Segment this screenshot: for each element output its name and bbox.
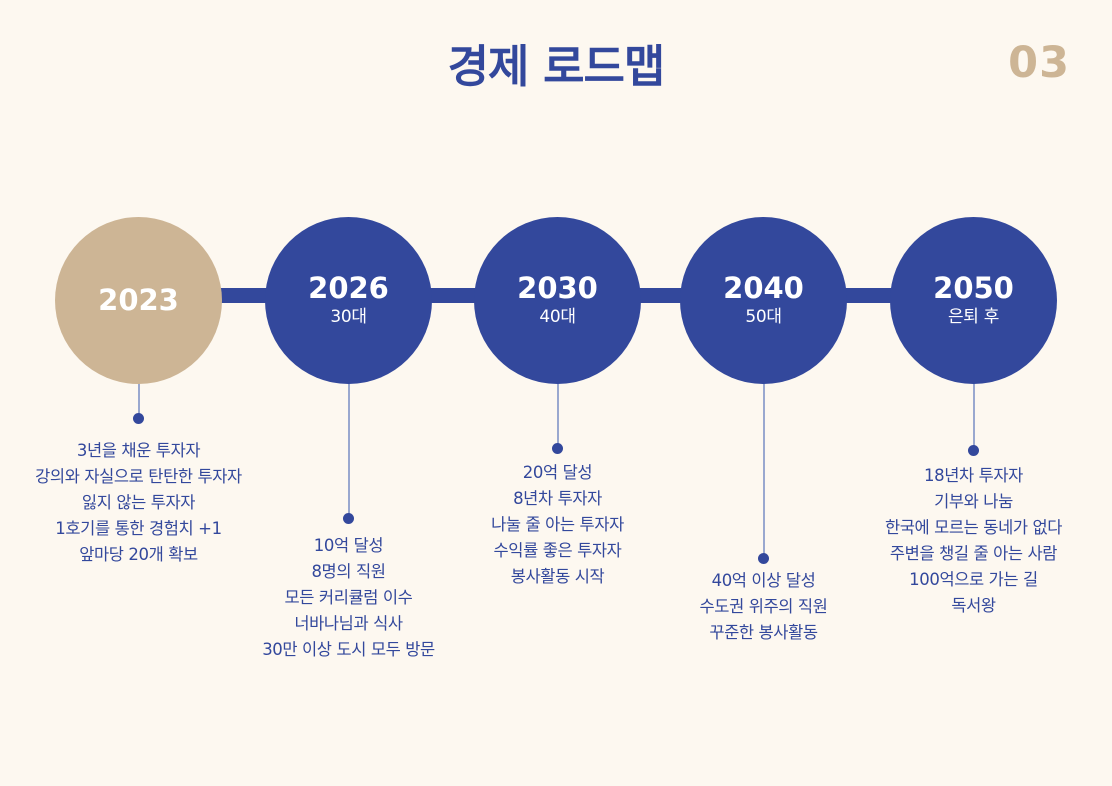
detail-line: 꾸준한 봉사활동 bbox=[644, 620, 884, 646]
timeline-dot-2030 bbox=[552, 443, 563, 454]
timeline-details-2026: 10억 달성8명의 직원모든 커리큘럼 이수너바나님과 식사30만 이상 도시 … bbox=[224, 533, 474, 663]
detail-line: 3년을 채운 투자자 bbox=[9, 438, 269, 464]
detail-line: 모든 커리큘럼 이수 bbox=[224, 585, 474, 611]
node-year-label: 2040 bbox=[723, 273, 804, 303]
timeline-dot-2050 bbox=[968, 445, 979, 456]
detail-line: 잃지 않는 투자자 bbox=[9, 490, 269, 516]
node-subtitle-label: 50대 bbox=[745, 306, 781, 328]
node-circle-2040: 204050대 bbox=[680, 217, 847, 384]
node-subtitle-label: 30대 bbox=[330, 306, 366, 328]
detail-line: 8명의 직원 bbox=[224, 559, 474, 585]
detail-line: 30만 이상 도시 모두 방문 bbox=[224, 637, 474, 663]
node-year-label: 2023 bbox=[98, 285, 179, 315]
timeline-node-2030[interactable]: 203040대 bbox=[474, 217, 641, 384]
timeline-node-2023[interactable]: 2023 bbox=[55, 217, 222, 384]
node-year-label: 2030 bbox=[517, 273, 598, 303]
detail-line: 10억 달성 bbox=[224, 533, 474, 559]
node-circle-2050: 2050은퇴 후 bbox=[890, 217, 1057, 384]
detail-line: 봉사활동 시작 bbox=[438, 564, 678, 590]
detail-line: 주변을 챙길 줄 아는 사람 bbox=[844, 541, 1104, 567]
detail-line: 기부와 나눔 bbox=[844, 489, 1104, 515]
slide-canvas: 경제 로드맵 03 20233년을 채운 투자자강의와 자실으로 탄탄한 투자자… bbox=[0, 0, 1112, 786]
detail-line: 18년차 투자자 bbox=[844, 463, 1104, 489]
detail-line: 20억 달성 bbox=[438, 460, 678, 486]
detail-line: 수익률 좋은 투자자 bbox=[438, 538, 678, 564]
node-subtitle-label: 40대 bbox=[539, 306, 575, 328]
detail-line: 너바나님과 식사 bbox=[224, 611, 474, 637]
detail-line: 100억으로 가는 길 bbox=[844, 567, 1104, 593]
timeline: 20233년을 채운 투자자강의와 자실으로 탄탄한 투자자잃지 않는 투자자1… bbox=[0, 0, 1112, 786]
node-year-label: 2026 bbox=[308, 273, 389, 303]
node-circle-2030: 203040대 bbox=[474, 217, 641, 384]
node-subtitle-label: 은퇴 후 bbox=[948, 306, 999, 328]
timeline-node-2040[interactable]: 204050대 bbox=[680, 217, 847, 384]
timeline-dot-2040 bbox=[758, 553, 769, 564]
timeline-node-2026[interactable]: 202630대 bbox=[265, 217, 432, 384]
timeline-dot-2026 bbox=[343, 513, 354, 524]
detail-line: 독서왕 bbox=[844, 593, 1104, 619]
detail-line: 나눌 줄 아는 투자자 bbox=[438, 512, 678, 538]
timeline-details-2050: 18년차 투자자기부와 나눔한국에 모르는 동네가 없다주변을 챙길 줄 아는 … bbox=[844, 463, 1104, 619]
detail-line: 강의와 자실으로 탄탄한 투자자 bbox=[9, 464, 269, 490]
timeline-stem-2040 bbox=[763, 372, 765, 558]
timeline-dot-2023 bbox=[133, 413, 144, 424]
detail-line: 한국에 모르는 동네가 없다 bbox=[844, 515, 1104, 541]
timeline-details-2030: 20억 달성8년차 투자자나눌 줄 아는 투자자수익률 좋은 투자자봉사활동 시… bbox=[438, 460, 678, 590]
node-circle-2023: 2023 bbox=[55, 217, 222, 384]
timeline-stem-2026 bbox=[348, 372, 350, 518]
node-year-label: 2050 bbox=[933, 273, 1014, 303]
detail-line: 8년차 투자자 bbox=[438, 486, 678, 512]
timeline-node-2050[interactable]: 2050은퇴 후 bbox=[890, 217, 1057, 384]
node-circle-2026: 202630대 bbox=[265, 217, 432, 384]
